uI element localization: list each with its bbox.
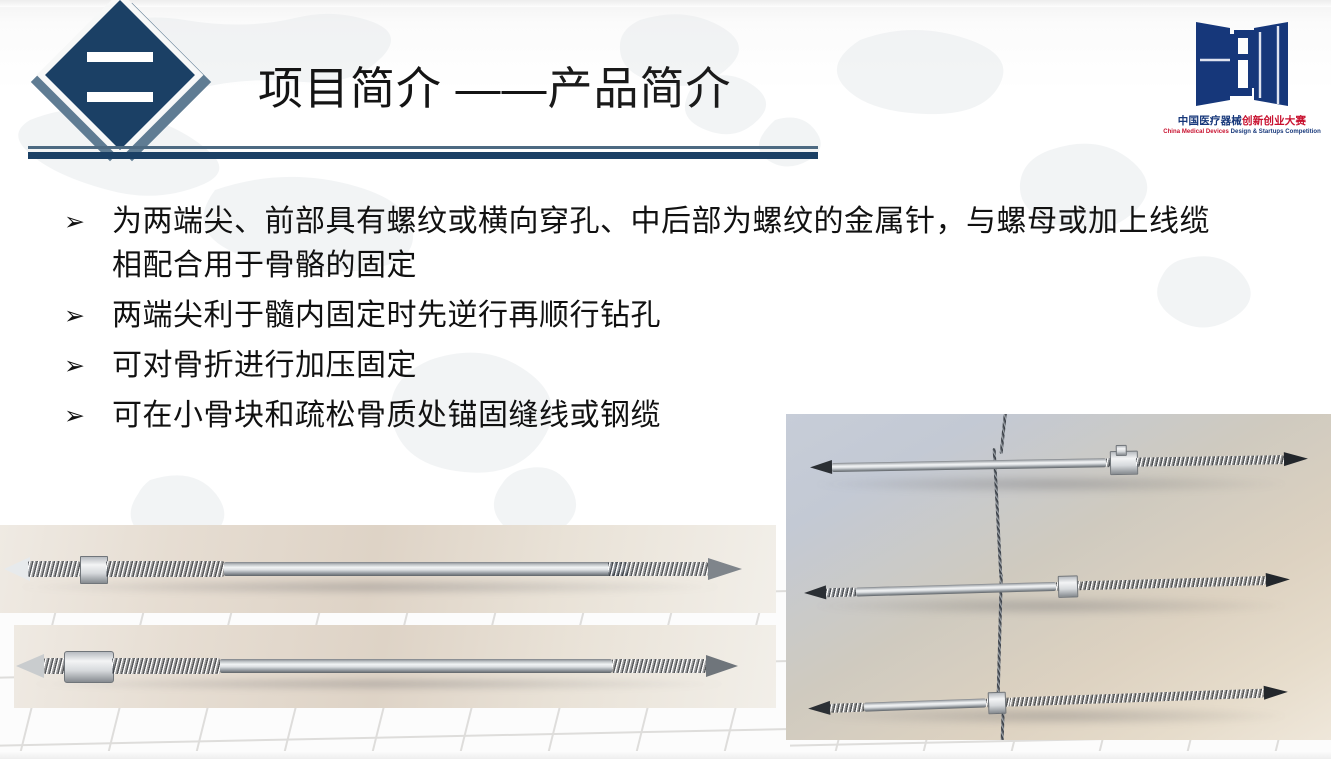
- competition-logo-cn-accent: 创新创业大赛: [1242, 115, 1306, 127]
- title-divider-thick: [28, 152, 818, 159]
- bone-pin-illustration: [14, 625, 776, 708]
- competition-logo-cn-plain: 中国医疗器械: [1178, 115, 1242, 127]
- title-divider-thin: [28, 146, 818, 149]
- list-item: ➢ 为两端尖、前部具有螺纹或横向穿孔、中后部为螺纹的金属针，与螺母或加上线缆相配…: [58, 200, 1218, 288]
- bullet-arrow-icon: ➢: [58, 394, 112, 438]
- competition-logo-en-plain: China Medical Devices: [1163, 129, 1229, 135]
- bullet-text: 为两端尖、前部具有螺纹或横向穿孔、中后部为螺纹的金属针，与螺母或加上线缆相配合用…: [112, 200, 1218, 288]
- title-dash: ——: [442, 63, 548, 114]
- competition-logo: 中国医疗器械创新创业大赛 China Medical Devices Desig…: [1167, 14, 1317, 164]
- open-book-door-logo-icon: [1190, 14, 1294, 112]
- title-main: 项目简介: [258, 63, 442, 114]
- list-item: ➢ 两端尖利于髓内固定时先逆行再顺行钻孔: [58, 294, 1218, 338]
- bullet-arrow-icon: ➢: [58, 294, 112, 338]
- page-title: 项目简介 ——产品简介: [258, 66, 732, 111]
- competition-logo-en-accent: Design & Startups Competition: [1229, 129, 1321, 135]
- pins-with-cable-photo: [786, 414, 1331, 740]
- list-item: ➢ 可对骨折进行加压固定: [58, 344, 1218, 388]
- bottom-edge-band: [0, 751, 1331, 759]
- bullet-text: 两端尖利于髓内固定时先逆行再顺行钻孔: [112, 294, 661, 338]
- bone-pin-illustration: [0, 525, 776, 613]
- slide: 项目简介 ——产品简介 中国医疗器械创新创业大赛 China Medical D…: [0, 0, 1331, 759]
- competition-logo-en: China Medical Devices Design & Startups …: [1163, 129, 1321, 136]
- bone-pin-photo-bottom: [14, 625, 776, 708]
- bone-pin-photo-top: [0, 525, 776, 613]
- bullet-list: ➢ 为两端尖、前部具有螺纹或横向穿孔、中后部为螺纹的金属针，与螺母或加上线缆相配…: [58, 200, 1218, 444]
- bullet-arrow-icon: ➢: [58, 200, 112, 244]
- title-sub: 产品简介: [548, 63, 732, 114]
- bullet-arrow-icon: ➢: [58, 344, 112, 388]
- diamond-two-emblem-icon: [36, 6, 204, 156]
- competition-logo-cn: 中国医疗器械创新创业大赛: [1178, 116, 1306, 128]
- bullet-text: 可对骨折进行加压固定: [112, 344, 417, 388]
- bullet-text: 可在小骨块和疏松骨质处锚固缝线或钢缆: [112, 394, 661, 438]
